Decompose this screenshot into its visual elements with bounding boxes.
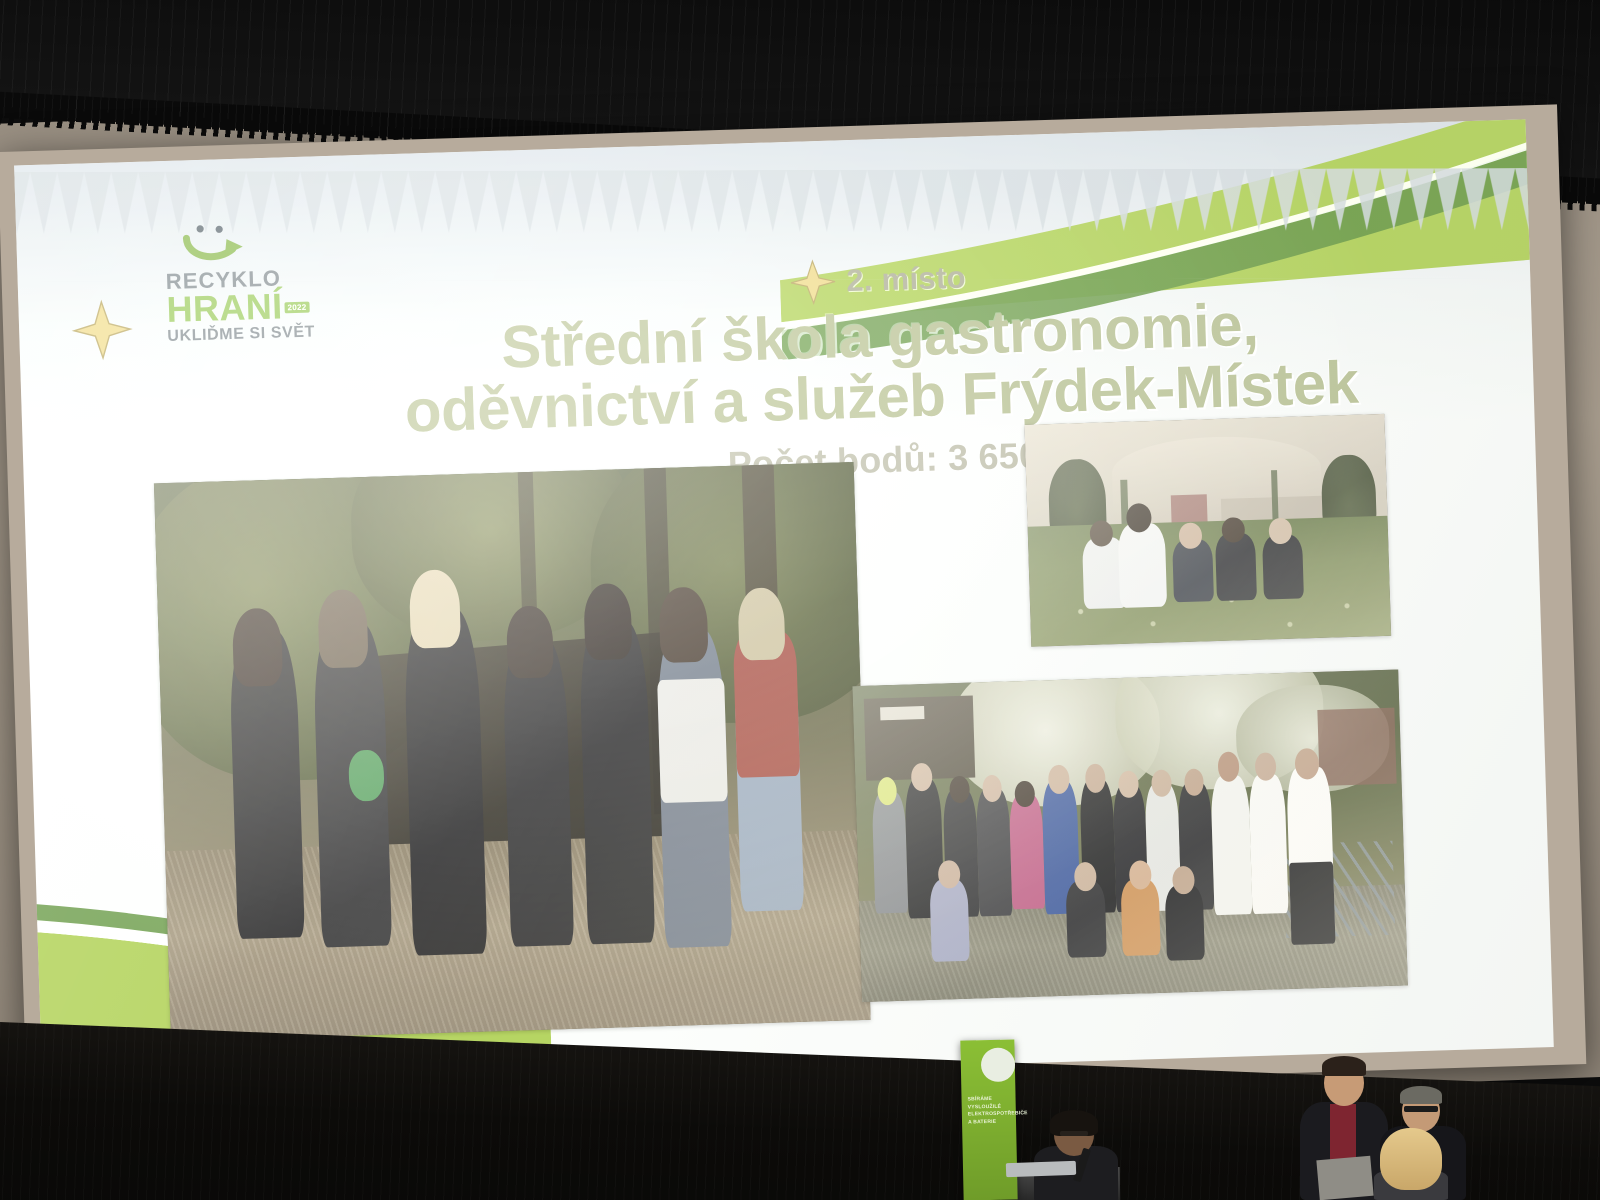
auditorium-scene: RECYKLO HRANÍ2022 UKLIĎME SI SVĚT 2. mís… xyxy=(0,0,1600,1200)
presentation-slide: RECYKLO HRANÍ2022 UKLIĎME SI SVĚT 2. mís… xyxy=(14,119,1554,1093)
photo-forest-group xyxy=(154,462,871,1041)
person-speaker-microphone xyxy=(1030,1110,1122,1200)
logo-badge: 2022 xyxy=(284,302,309,314)
four-point-star-icon xyxy=(790,259,837,306)
rank-label: 2. místo xyxy=(846,260,967,300)
glasses-icon xyxy=(1404,1106,1438,1112)
four-point-star-icon-secondary xyxy=(70,298,134,362)
logo-line-2: HRANÍ xyxy=(166,290,283,328)
laptop xyxy=(1006,1161,1076,1177)
projection-screen: RECYKLO HRANÍ2022 UKLIĎME SI SVĚT 2. mís… xyxy=(0,104,1586,1111)
person-award-recipient xyxy=(1368,1126,1454,1200)
banner-logo-disc xyxy=(981,1047,1016,1082)
photo-meadow-group xyxy=(1025,414,1392,647)
photo-large-group xyxy=(852,670,1407,1003)
banner-body-text: SBÍRÁME VYSLOUŽILÉ ELEKTROSPOTŘEBIČE A B… xyxy=(968,1096,1011,1127)
recycle-smiley-icon xyxy=(174,220,255,264)
